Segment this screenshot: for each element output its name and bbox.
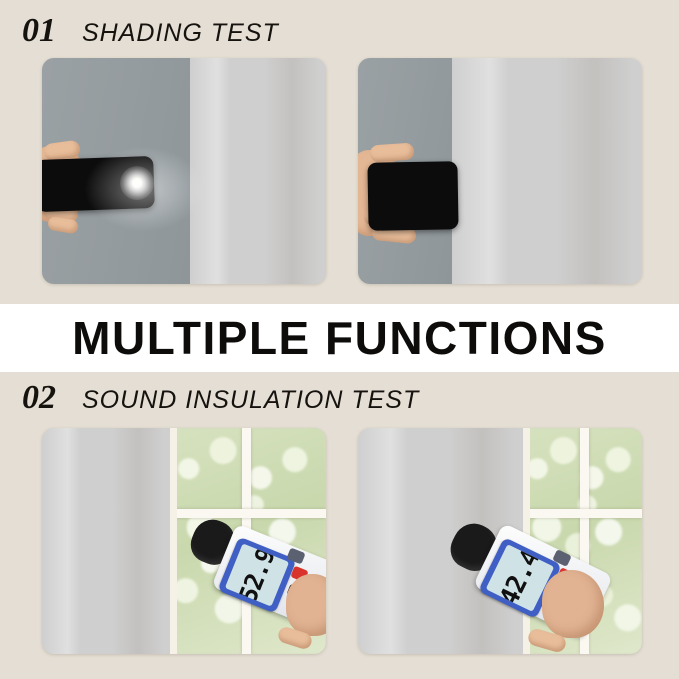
beige-curtain-panel [452, 58, 642, 284]
section-heading-01: 01 SHADING TEST [22, 14, 279, 48]
photo-scene-window-meter: 52.9 [42, 428, 326, 654]
photo-card-sound-curtain-closed: 42.4 SMART SENSOR [358, 428, 642, 654]
section-number-02: 02 [22, 381, 56, 415]
window-mullion-horizontal [170, 509, 326, 518]
sound-level-meter-left: 52.9 [182, 520, 326, 640]
section-number-01: 01 [22, 14, 56, 48]
banner-multiple-functions: MULTIPLE FUNCTIONS [0, 304, 679, 372]
section-title-02: SOUND INSULATION TEST [82, 388, 419, 413]
beige-curtain-panel [190, 58, 326, 284]
window-frame-left [170, 428, 177, 654]
section-title-01: SHADING TEST [82, 21, 279, 46]
finger-index [369, 142, 414, 162]
flashlight-led [120, 166, 154, 200]
smartphone [367, 161, 458, 231]
photo-card-sound-window-open: 52.9 [42, 428, 326, 654]
window-mullion-horizontal [523, 509, 642, 518]
sound-level-meter-right: 42.4 SMART SENSOR [446, 520, 616, 644]
beige-curtain-panel [42, 428, 170, 654]
product-infographic: 01 SHADING TEST [0, 0, 679, 679]
hand-holding-meter [542, 570, 604, 638]
photo-card-shading-light-blocked [358, 58, 642, 284]
section-heading-02: 02 SOUND INSULATION TEST [22, 381, 419, 415]
photo-scene-curtain-meter: 42.4 SMART SENSOR [358, 428, 642, 654]
photo-card-shading-light-on [42, 58, 326, 284]
photo-scene-wall-and-curtain [42, 58, 326, 284]
banner-title: MULTIPLE FUNCTIONS [72, 311, 607, 365]
photo-scene-curtain-blocking [358, 58, 642, 284]
hand-holding-meter [286, 574, 326, 636]
